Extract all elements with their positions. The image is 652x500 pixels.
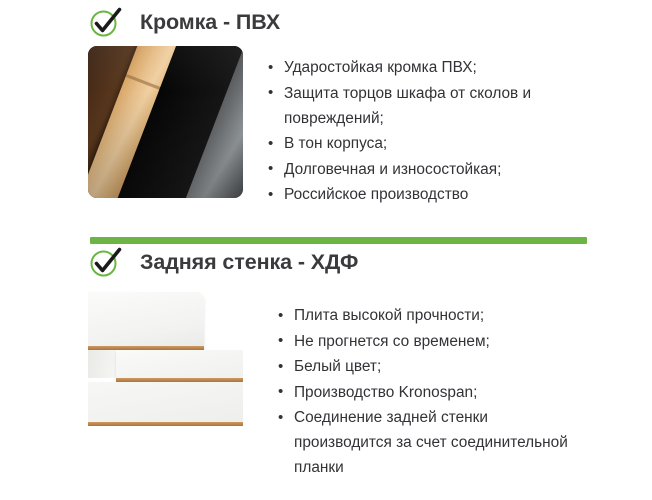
section-heading-edge-pvc: Кромка - ПВХ (0, 0, 652, 46)
hdf-sheet-shadow (88, 426, 243, 438)
section-heading-back-panel-hdf: Задняя стенка - ХДФ (0, 240, 652, 286)
list-item: Производство Kronospan; (276, 380, 584, 405)
pvc-edge-banding-photo (88, 46, 243, 198)
list-item: Плита высокой прочности; (276, 303, 584, 328)
check-circle-icon (88, 244, 124, 280)
list-item: Белый цвет; (276, 354, 584, 379)
hdf-sheet-left-face (88, 350, 116, 378)
check-circle-icon (88, 4, 124, 40)
feature-section-back-panel-hdf: Задняя стенка - ХДФ Плита высокой прочно… (0, 240, 652, 481)
hdf-sheet-top (88, 292, 204, 349)
feature-list-edge-pvc: Ударостойкая кромка ПВХ; Защита торцов ш… (266, 55, 652, 208)
page-title: Кромка - ПВХ (140, 12, 280, 34)
hdf-back-panel-photo (88, 286, 243, 438)
list-item: Долговечная и износостойкая; (266, 157, 574, 182)
list-item: В тон корпуса; (266, 131, 574, 156)
feature-section-edge-pvc: Кромка - ПВХ Ударостойкая кромка ПВХ; За… (0, 0, 652, 208)
page-title: Задняя стенка - ХДФ (140, 252, 358, 274)
promo-features-page: Кромка - ПВХ Ударостойкая кромка ПВХ; За… (0, 0, 652, 500)
hdf-sheet-middle (116, 350, 243, 378)
list-item: Ударостойкая кромка ПВХ; (266, 55, 574, 80)
list-item: Соединение задней стенки производится за… (276, 405, 584, 480)
list-item: Не прогнется со временем; (276, 329, 584, 354)
hdf-sheet-bottom (88, 382, 243, 422)
list-item: Российское производство (266, 182, 574, 207)
section-content-edge-pvc: Ударостойкая кромка ПВХ; Защита торцов ш… (0, 46, 652, 208)
list-item: Защита торцов шкафа от сколов и поврежде… (266, 81, 574, 131)
section-content-back-panel-hdf: Плита высокой прочности; Не прогнется со… (0, 286, 652, 481)
feature-list-back-panel-hdf: Плита высокой прочности; Не прогнется со… (276, 303, 652, 481)
